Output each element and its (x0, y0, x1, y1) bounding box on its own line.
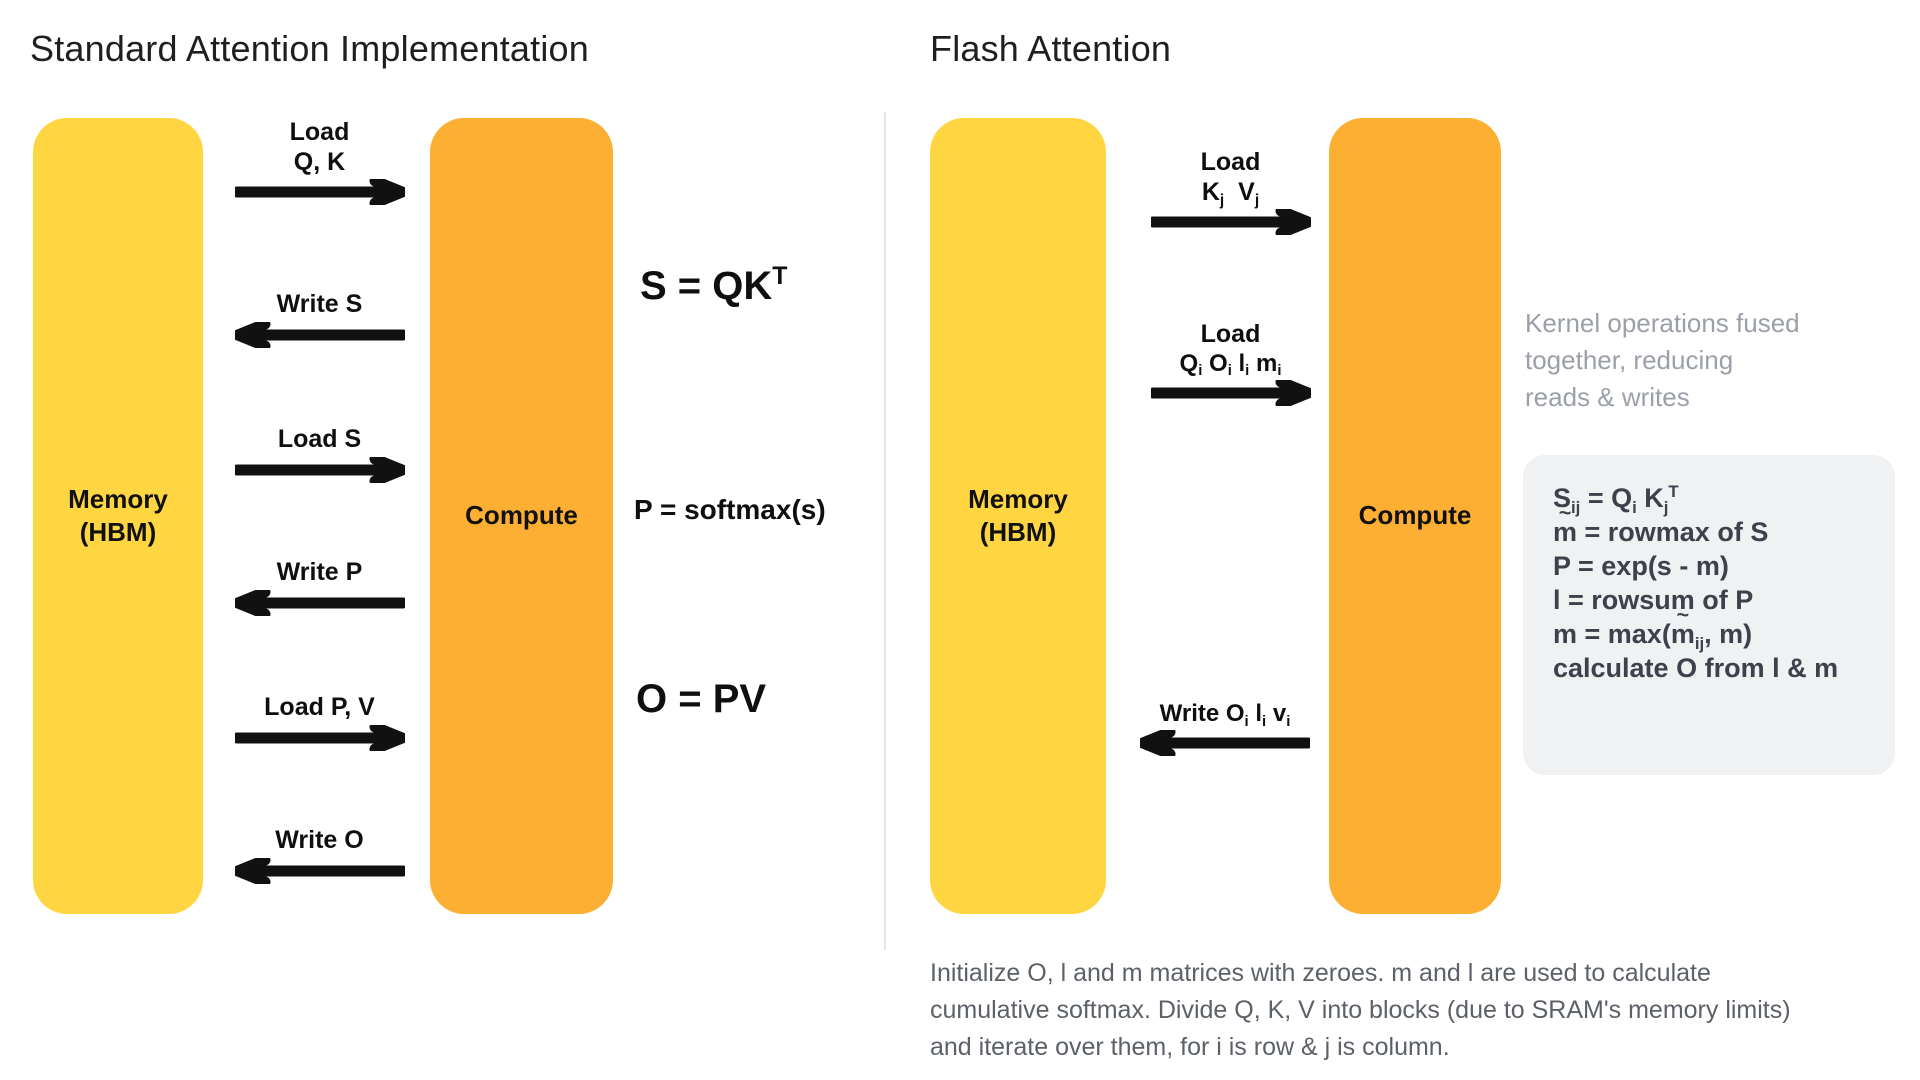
arrow-right-icon (235, 457, 405, 483)
kernel-fusion-note: Kernel operations fused together, reduci… (1525, 305, 1885, 416)
kernel-k-base: K (1637, 483, 1664, 513)
vj-base: V (1238, 178, 1255, 206)
arrow-load-qk: Load Q, K (232, 118, 407, 205)
write-o-base: Write O (1160, 700, 1245, 727)
left-panel-title: Standard Attention Implementation (30, 28, 589, 70)
mi-base: m (1256, 350, 1277, 377)
arrow-load-s: Load S (232, 425, 407, 483)
caption-line2: cumulative softmax. Divide Q, K, V into … (930, 992, 1920, 1029)
arrow-load-qi-line2: Qi Oi li mi (1148, 350, 1313, 378)
kernel-line-exp: P = exp(s - m) (1553, 549, 1865, 583)
kernel-line-s-ij: Sij = Qi KjT (1553, 481, 1865, 515)
right-memory-label-line2: (HBM) (968, 516, 1068, 549)
m-tilde-wrap: ~m (1553, 515, 1577, 549)
tilde-glyph: ~ (1559, 502, 1572, 524)
arrow-load-pv: Load P, V (232, 693, 407, 751)
right-compute-block: Compute (1329, 118, 1501, 914)
arrow-right-icon (235, 179, 405, 205)
kernel-fusion-note-line1: Kernel operations fused (1525, 305, 1885, 342)
arrow-left-icon (235, 858, 405, 884)
qi-base: Q (1180, 350, 1199, 377)
kj-sub: j (1220, 192, 1224, 209)
qi-sub: i (1198, 363, 1202, 379)
arrow-write-p: Write P (232, 558, 407, 616)
flash-attention-caption: Initialize O, l and m matrices with zero… (930, 955, 1920, 1066)
kernel-max-sub: ij (1695, 634, 1704, 653)
arrow-load-kj-vj: Load Kj Vj (1148, 148, 1313, 235)
write-v-sub: i (1286, 714, 1290, 730)
left-memory-label: Memory (HBM) (68, 483, 168, 550)
m-tilde-wrap-2: ~m (1671, 617, 1695, 651)
kernel-fusion-note-line3: reads & writes (1525, 379, 1885, 416)
panel-divider (884, 112, 886, 950)
arrow-right-icon (235, 725, 405, 751)
formula-s-qk: S = QKT (640, 264, 787, 309)
right-memory-label: Memory (HBM) (968, 483, 1068, 550)
arrow-write-s-label: Write S (232, 290, 407, 320)
arrow-right-icon (1151, 380, 1311, 406)
formula-s-qk-transpose: T (772, 263, 787, 290)
caption-line3: and iterate over them, for i is row & j … (930, 1029, 1920, 1066)
kernel-line-calc-o: calculate O from l & m (1553, 651, 1865, 685)
kernel-line-rowsum: l = rowsum of P (1553, 583, 1865, 617)
left-compute-label: Compute (465, 499, 578, 532)
arrow-left-icon (1140, 730, 1310, 756)
arrow-load-s-label: Load S (232, 425, 407, 455)
write-v-base: v (1273, 700, 1286, 727)
right-compute-label: Compute (1359, 499, 1472, 532)
diagram-canvas: Standard Attention Implementation Memory… (0, 0, 1920, 1080)
kernel-line-max: m = max(~mij, m) (1553, 617, 1865, 651)
formula-s-qk-base: S = QK (640, 264, 772, 308)
kernel-s-sub: ij (1571, 498, 1580, 517)
kernel-fusion-note-line2: together, reducing (1525, 342, 1885, 379)
left-memory-block: Memory (HBM) (33, 118, 203, 914)
kernel-k-sup: T (1668, 482, 1678, 501)
arrow-load-qi-line1: Load (1148, 320, 1313, 350)
arrow-left-icon (235, 322, 405, 348)
kernel-q-sub: i (1632, 498, 1637, 517)
kernel-eq: = Q (1580, 483, 1632, 513)
arrow-load-kj-vj-line1: Load (1148, 148, 1313, 178)
tilde-glyph-2: ~ (1677, 604, 1690, 626)
oi-base: O (1209, 350, 1228, 377)
right-panel-title: Flash Attention (930, 28, 1171, 70)
left-memory-label-line2: (HBM) (68, 516, 168, 549)
mi-sub: i (1277, 363, 1281, 379)
li-sub: i (1245, 363, 1249, 379)
arrow-write-o: Write O (232, 826, 407, 884)
arrow-write-p-label: Write P (232, 558, 407, 588)
arrow-load-qi-oi-li-mi: Load Qi Oi li mi (1148, 320, 1313, 406)
arrow-write-oi-label: Write Oi li vi (1135, 700, 1315, 728)
oi-sub: i (1228, 363, 1232, 379)
kernel-line-rowmax: ~m = rowmax of S (1553, 515, 1865, 549)
kernel-rowmax-rest: = rowmax of S (1577, 517, 1768, 547)
arrow-write-oi-li-vi: Write Oi li vi (1135, 700, 1315, 756)
vj-sub: j (1255, 192, 1259, 209)
kernel-max-prefix: m = max( (1553, 619, 1671, 649)
left-compute-block: Compute (430, 118, 613, 914)
formula-o-pv: O = PV (636, 677, 766, 722)
arrow-write-o-label: Write O (232, 826, 407, 856)
left-memory-label-line1: Memory (68, 483, 168, 516)
arrow-load-qk-line1: Load (232, 118, 407, 148)
caption-line1: Initialize O, l and m matrices with zero… (930, 955, 1920, 992)
right-memory-block: Memory (HBM) (930, 118, 1106, 914)
formula-p-softmax: P = softmax(s) (634, 494, 826, 526)
write-l-sub: i (1262, 714, 1266, 730)
kj-base: K (1202, 178, 1220, 206)
kernel-operations-card: Sij = Qi KjT ~m = rowmax of S P = exp(s … (1523, 455, 1895, 775)
arrow-left-icon (235, 590, 405, 616)
arrow-load-kj-vj-line2: Kj Vj (1148, 178, 1313, 208)
write-o-sub: i (1245, 714, 1249, 730)
arrow-load-qk-line2: Q, K (232, 148, 407, 178)
arrow-load-pv-label: Load P, V (232, 693, 407, 723)
kernel-max-suffix: , m) (1704, 619, 1752, 649)
right-memory-label-line1: Memory (968, 483, 1068, 516)
arrow-write-s: Write S (232, 290, 407, 348)
arrow-right-icon (1151, 209, 1311, 235)
